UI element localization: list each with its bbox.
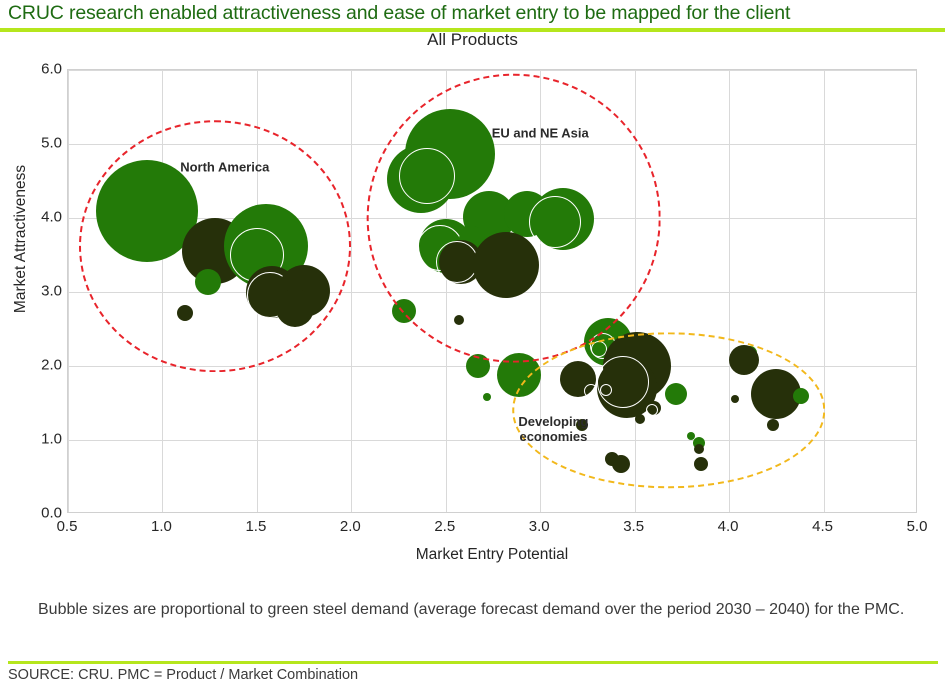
- footnote-text: Bubble sizes are proportional to green s…: [38, 598, 918, 621]
- cluster-outline-north-america: [79, 120, 351, 372]
- cluster-outline-developing-economies: [512, 333, 826, 488]
- gridline-vertical: [68, 70, 69, 512]
- source-note: SOURCE: CRU. PMC = Product / Market Comb…: [8, 667, 938, 683]
- x-axis-tick-labels: 0.51.01.52.02.53.03.54.04.55.0: [67, 518, 917, 540]
- x-tick-label: 0.5: [37, 518, 97, 535]
- y-axis-tick-labels: 0.01.02.03.04.05.06.0: [0, 69, 62, 513]
- x-tick-label: 1.5: [226, 518, 286, 535]
- gridline-vertical: [351, 70, 352, 512]
- chart-page: CRUC research enabled attractiveness and…: [0, 0, 945, 691]
- x-tick-label: 2.0: [320, 518, 380, 535]
- page-title: CRUC research enabled attractiveness and…: [8, 2, 938, 25]
- x-tick-label: 4.0: [698, 518, 758, 535]
- chart-title: All Products: [0, 30, 945, 50]
- plot-area: North AmericaEU and NE AsiaDeveloping ec…: [67, 69, 917, 513]
- x-tick-label: 3.0: [509, 518, 569, 535]
- bubble-point[interactable]: [483, 393, 491, 401]
- y-axis-title: Market Attractiveness: [12, 74, 30, 404]
- x-tick-label: 3.5: [604, 518, 664, 535]
- cluster-outline-eu-ne-asia: [366, 74, 661, 363]
- gridline-vertical: [824, 70, 825, 512]
- footer-divider: [8, 661, 938, 664]
- x-tick-label: 5.0: [887, 518, 945, 535]
- x-axis-title: Market Entry Potential: [67, 546, 917, 564]
- gridline-horizontal: [68, 70, 916, 71]
- cluster-label-north-america: North America: [180, 161, 269, 176]
- cluster-label-developing-economies: Developing economies: [518, 415, 588, 445]
- x-tick-label: 4.5: [793, 518, 853, 535]
- x-tick-label: 2.5: [415, 518, 475, 535]
- cluster-label-eu-ne-asia: EU and NE Asia: [492, 127, 589, 142]
- x-tick-label: 1.0: [131, 518, 191, 535]
- y-tick-label: 1.0: [4, 431, 62, 448]
